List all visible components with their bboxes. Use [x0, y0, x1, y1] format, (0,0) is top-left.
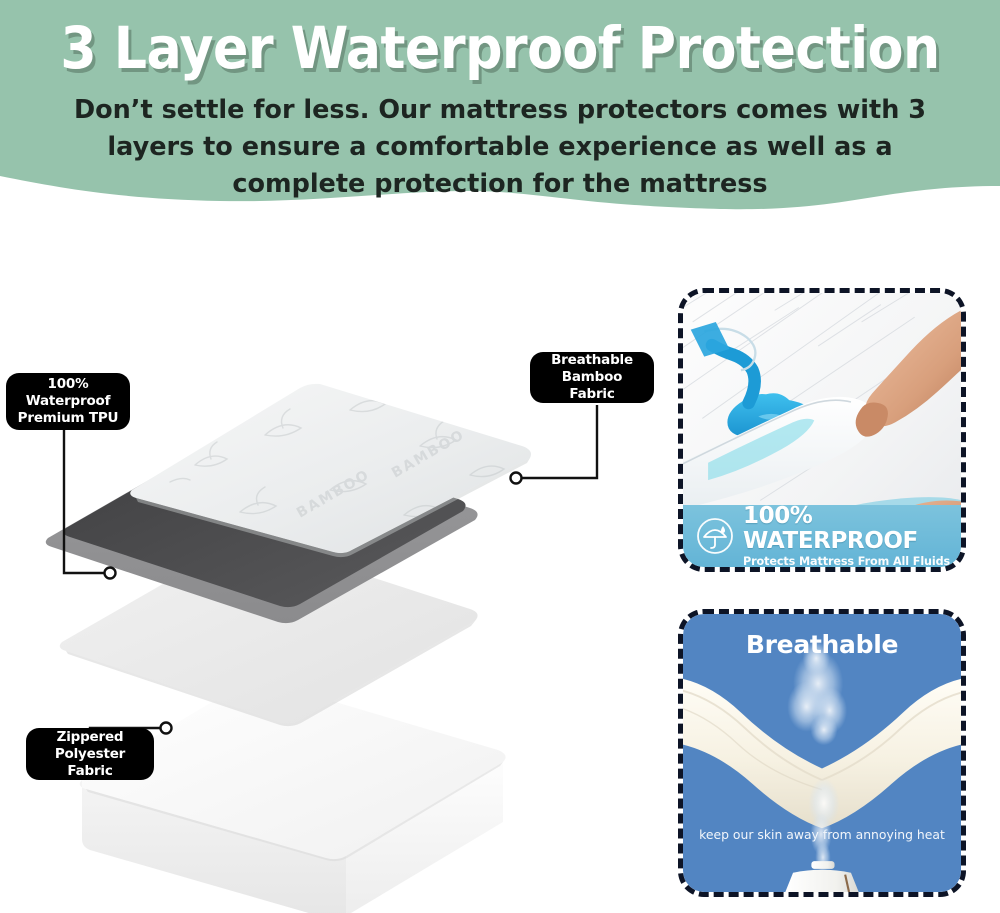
callout-zip-line2: Fabric — [67, 763, 112, 779]
callout-tpu-line2: Premium TPU — [18, 410, 119, 426]
breathable-title: Breathable — [683, 631, 961, 659]
callout-zip-line1: Zippered Polyester — [55, 729, 125, 762]
page-title: 3 Layer Waterproof Protection — [0, 16, 1000, 80]
page-subtitle: Don’t settle for less. Our mattress prot… — [70, 92, 930, 203]
breathable-demo-panel: Breathable keep our skin away from annoy… — [678, 609, 966, 897]
waterproof-demo-panel: 100% WATERPROOF Protects Mattress From A… — [678, 288, 966, 572]
infographic-page: 3 Layer Waterproof Protection Don’t sett… — [0, 0, 1000, 913]
exploded-layers-diagram: BAMBOO BAMBOO BAMBOO — [0, 250, 660, 913]
header-banner: 3 Layer Waterproof Protection Don’t sett… — [0, 0, 1000, 232]
umbrella-droplet-icon — [693, 514, 737, 558]
waterproof-caption-bar: 100% WATERPROOF Protects Mattress From A… — [683, 505, 961, 567]
callout-label-waterproof-tpu: 100% Waterproof Premium TPU — [6, 373, 130, 430]
breathable-caption: keep our skin away from annoying heat — [683, 827, 961, 843]
callout-bamboo-line1: Breathable Bamboo — [551, 352, 633, 385]
callout-label-bamboo-fabric: Breathable Bamboo Fabric — [530, 352, 654, 403]
callout-label-zippered-polyester: Zippered Polyester Fabric — [26, 728, 154, 780]
callout-tpu-line1: 100% Waterproof — [26, 376, 111, 409]
leader-line-bamboo — [522, 405, 597, 478]
waterproof-subtitle: Protects Mattress From All Fluids — [743, 554, 961, 569]
leader-dot-tpu — [105, 568, 116, 579]
leader-dot-bamboo — [511, 473, 522, 484]
waterproof-title: 100% WATERPROOF — [743, 504, 961, 554]
callout-bamboo-line2: Fabric — [569, 386, 614, 402]
leader-dot-zipper — [161, 723, 172, 734]
